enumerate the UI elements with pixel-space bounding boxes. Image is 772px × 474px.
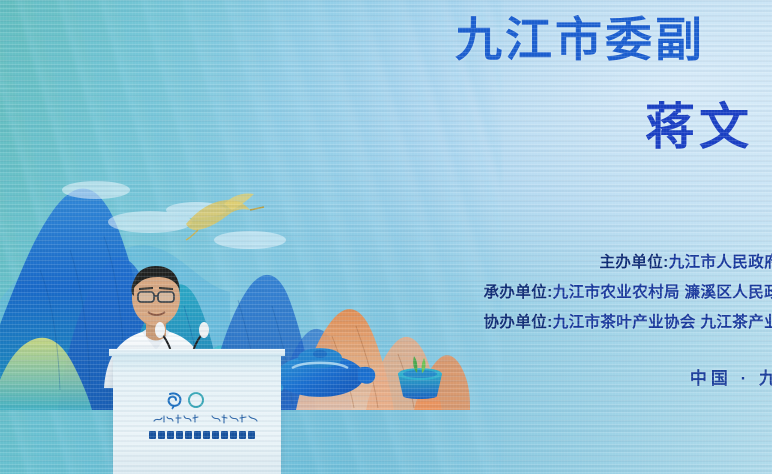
flying-crane-icon bbox=[176, 190, 266, 250]
screen-credits: 主办单位:九江市人民政府 承办单位:九江市农业农村局 濂溪区人民政 协办单位:九… bbox=[380, 248, 772, 339]
credit-line: 承办单位:九江市农业农村局 濂溪区人民政 bbox=[380, 278, 772, 308]
teaware-illustration bbox=[262, 330, 452, 410]
podium-top-edge bbox=[109, 349, 285, 356]
screen-headline: 九江市委副 bbox=[455, 14, 772, 67]
credit-label: 协办单位: bbox=[484, 314, 553, 331]
credit-value: 九江市农业农村局 濂溪区人民政 bbox=[553, 284, 772, 301]
expo-logo-icon bbox=[164, 390, 218, 410]
credit-label: 承办单位: bbox=[484, 284, 553, 301]
credit-label: 主办单位: bbox=[600, 254, 669, 271]
credit-value: 九江市人民政府 bbox=[669, 254, 772, 271]
screenshot-root: 九江市委副 蒋文 主办单位:九江市人民政府 承办单位:九江市农业农村局 濂溪区人… bbox=[0, 0, 772, 474]
podium-event-title bbox=[147, 428, 265, 442]
credit-line: 主办单位:九江市人民政府 bbox=[380, 248, 772, 278]
credit-line: 协办单位:九江市茶叶产业协会 九江茶产业 bbox=[380, 308, 772, 338]
screen-speaker-name: 蒋文 bbox=[645, 100, 772, 155]
podium-calligraphy-slogan bbox=[150, 412, 260, 426]
screen-venue-line: 中国 · 九 bbox=[430, 364, 772, 389]
credit-value: 九江市茶叶产业协会 九江茶产业 bbox=[553, 314, 772, 331]
